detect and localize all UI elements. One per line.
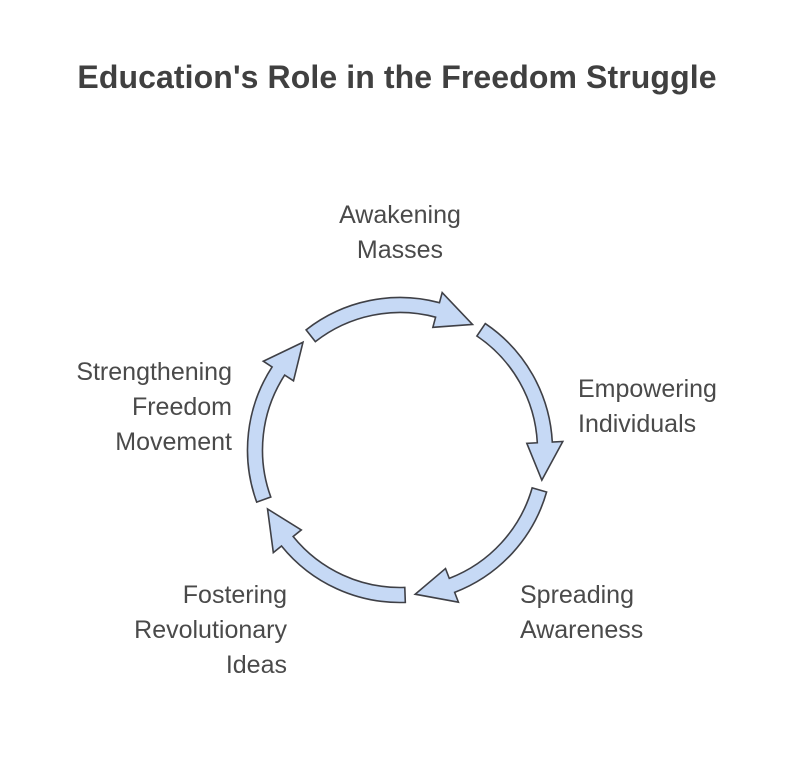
- arrow-right: [477, 324, 563, 481]
- arrow-bottom-left: [268, 509, 406, 603]
- cycle-stage-label-fostering-revolutionary-ideas: Fostering Revolutionary Ideas: [75, 578, 287, 683]
- cycle-stage-label-spreading-awareness: Spreading Awareness: [520, 578, 735, 648]
- cycle-diagram: Education's Role in the Freedom Struggle…: [0, 0, 794, 758]
- arrow-left: [248, 342, 303, 502]
- cycle-stage-label-empowering-individuals: Empowering Individuals: [578, 372, 783, 442]
- cycle-stage-label-awakening-masses: Awakening Masses: [265, 198, 535, 268]
- cycle-stage-label-strengthening-freedom-movement: Strengthening Freedom Movement: [22, 355, 232, 460]
- arrow-top: [306, 293, 472, 342]
